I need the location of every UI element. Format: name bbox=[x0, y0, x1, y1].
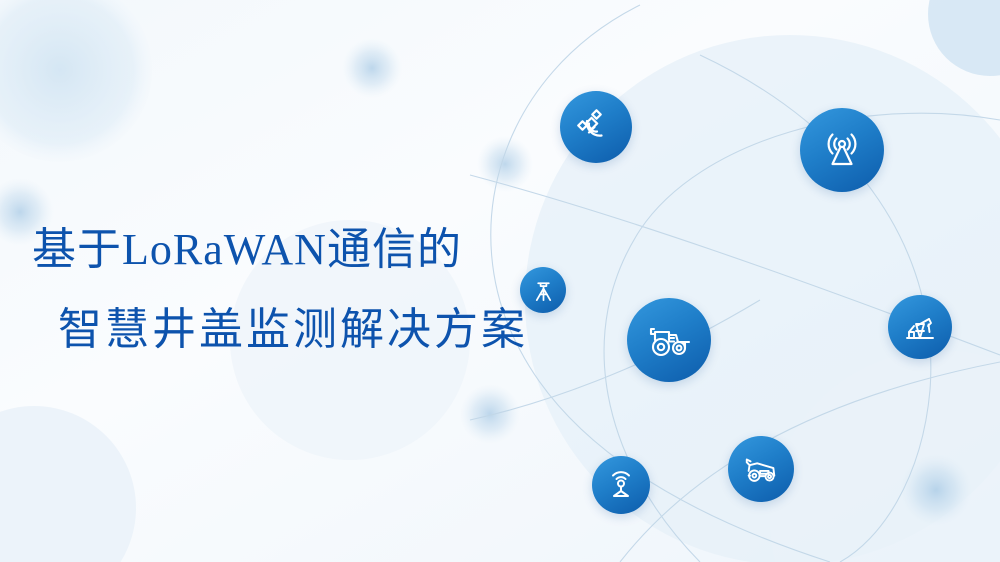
oil-pumpjack-icon bbox=[901, 308, 939, 346]
node-oil-pumpjack[interactable] bbox=[888, 295, 952, 359]
node-wireless-sensor[interactable] bbox=[592, 456, 650, 514]
dot-upper-mid bbox=[342, 38, 402, 98]
harvester-icon bbox=[742, 450, 780, 488]
satellite-icon bbox=[576, 107, 616, 147]
radio-tower-icon bbox=[819, 127, 865, 173]
page-title: 基于LoRaWAN通信的 智慧井盖监测解决方案 bbox=[30, 228, 590, 352]
dot-left-mid bbox=[477, 136, 533, 192]
title-line-1: 基于LoRaWAN通信的 bbox=[30, 228, 590, 272]
slide-canvas: 基于LoRaWAN通信的 智慧井盖监测解决方案 bbox=[0, 0, 1000, 562]
wireless-sensor-icon bbox=[604, 468, 638, 502]
node-harvester[interactable] bbox=[728, 436, 794, 502]
title-line-2: 智慧井盖监测解决方案 bbox=[30, 308, 590, 352]
node-radio-tower[interactable] bbox=[800, 108, 884, 192]
tractor-icon bbox=[645, 316, 693, 364]
dot-bottom bbox=[900, 454, 972, 526]
dot-center bbox=[460, 384, 520, 444]
node-satellite[interactable] bbox=[560, 91, 632, 163]
node-tractor[interactable] bbox=[627, 298, 711, 382]
